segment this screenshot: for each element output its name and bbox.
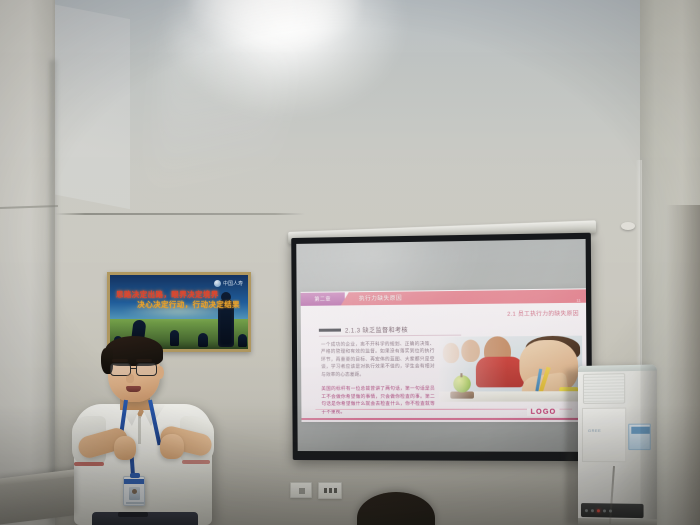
ceiling-sensor-icon (621, 222, 635, 230)
slide-heading-group: 2.1.3 缺乏监督和考核 (319, 325, 408, 335)
slide-heading: 2.1.3 缺乏监督和考核 (345, 325, 408, 335)
photo-left-fade (439, 336, 583, 402)
slide-chapter-tab: 第二章 (301, 292, 345, 306)
poster-slogan-line2: 决心决定行动，行动决定结果 (116, 300, 248, 310)
poster-slogan-line1: 思路决定出路，眼界决定境界 (116, 290, 219, 299)
poster-brand: 中国人寿 (214, 280, 243, 287)
eyeglass-lens-right (136, 363, 157, 376)
ac-grille (583, 373, 625, 404)
poster-slogan: 思路决定出路，眼界决定境界 决心决定行动，行动决定结果 (116, 290, 248, 310)
presenter-eyebrow (112, 359, 128, 362)
chess-pawn-icon (238, 334, 247, 347)
heading-rule (319, 329, 341, 332)
slide-topbar: 第二章 执行力缺失原因 11 (301, 288, 586, 308)
poster-brand-text: 中国人寿 (223, 280, 243, 287)
slide-section-label: 2.1 员工执行力的缺失原因 (507, 309, 579, 318)
presenter-mouth (126, 386, 141, 392)
eyeglasses-icon (108, 363, 160, 376)
slide-title-banner: 执行力缺失原因 11 (341, 289, 586, 305)
slide-page-number: 11 (576, 298, 580, 303)
slide-banner-title: 执行力缺失原因 (359, 294, 402, 303)
presenter-hair (105, 336, 163, 366)
classroom-photo-scene: 思路决定出路，眼界决定境界 决心决定行动，行动决定结果 中国人寿 第二章 执行力… (0, 0, 700, 525)
slide-photo-classroom (439, 336, 583, 402)
poster-brand-icon (214, 280, 221, 287)
presenter-eyebrow (136, 359, 152, 362)
floor-shading (0, 405, 700, 525)
slide-paragraph-1: 一个成功的企业，离不开科学的规划、正确的决策、严格的管理和有效的监督。如果没有落… (321, 340, 435, 378)
slide-chapter-label: 第二章 (314, 296, 331, 303)
presenter-nose (126, 374, 134, 383)
presentation-slide: 第二章 执行力缺失原因 11 2.1 员工执行力的缺失原因 2.1.3 缺乏监督… (301, 288, 587, 422)
